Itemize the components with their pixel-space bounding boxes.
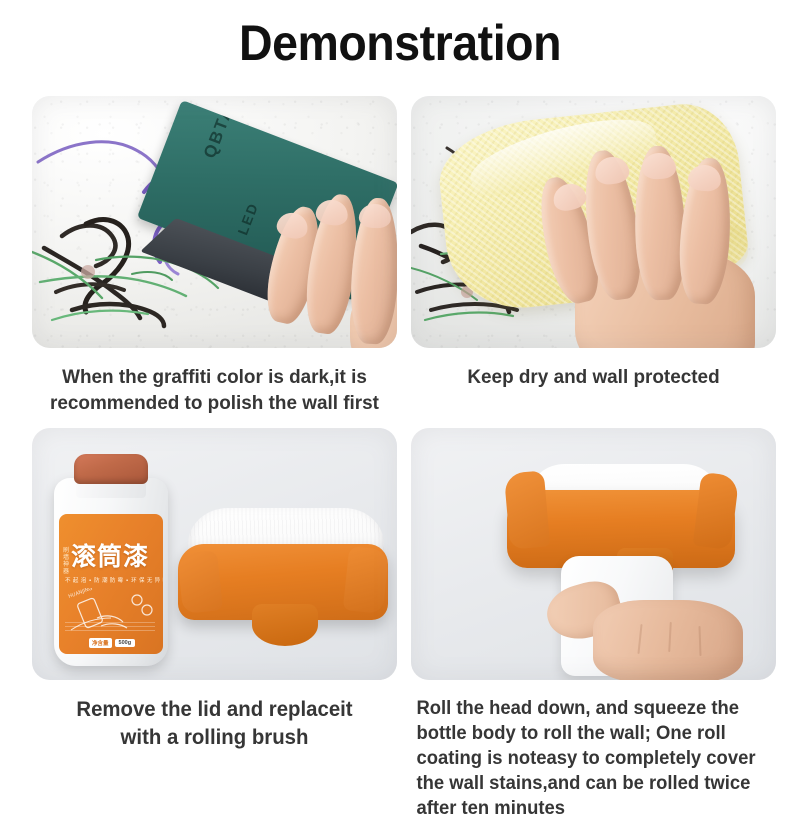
- roller-arm-right: [343, 546, 389, 614]
- caption-line: recommended to polish the wall first: [37, 390, 391, 416]
- caption-line: Remove the lid and replaceit: [37, 696, 391, 724]
- step-3-caption: Remove the lid and replaceit with a roll…: [37, 696, 391, 752]
- page-title: Demonstration: [28, 14, 772, 72]
- bottle-cap: [74, 454, 148, 484]
- caption-line: bottle body to roll the wall; One roll: [416, 721, 770, 746]
- photo-wipe-wall: [411, 96, 776, 348]
- caption-line: Roll the head down, and squeeze the: [416, 696, 770, 721]
- step-4-caption: Roll the head down, and squeeze the bott…: [416, 696, 770, 821]
- bottle-label-fineprint: [65, 622, 155, 632]
- caption-line: the wall stains,and can be rolled twice: [416, 771, 770, 796]
- hand: [547, 560, 743, 680]
- bottle-label-title: 滚筒漆: [71, 544, 149, 569]
- photo-bottle-and-roller: 刷墙神器 滚筒漆 不 起 泡 • 防 潮 防 霉 • 环 保 无 异 味 • 遮…: [32, 428, 397, 680]
- roller-brush-head: [178, 508, 388, 656]
- step-2: Keep dry and wall protected: [411, 96, 776, 390]
- svg-text:HUANJING: HUANJING: [68, 588, 94, 600]
- demonstration-infographic: Demonstration: [0, 0, 800, 800]
- step-1-caption: When the graffiti color is dark,it is re…: [37, 364, 391, 416]
- caption-line: coating is noteasy to completely cover: [416, 746, 770, 771]
- step-4: Roll the head down, and squeeze the bott…: [411, 428, 776, 821]
- paint-bottle: 刷墙神器 滚筒漆 不 起 泡 • 防 潮 防 霉 • 环 保 无 异 味 • 遮…: [54, 454, 168, 666]
- step-1: QBTAOUC LED 砂纸块 S 2 1: [32, 96, 397, 416]
- caption-line: with a rolling brush: [37, 724, 391, 752]
- hand: [264, 188, 397, 348]
- roller-arm-right: [693, 472, 740, 550]
- bottle-weight-badge: 净含量 500g: [89, 638, 135, 648]
- weight-label: 净含量: [89, 638, 112, 648]
- roller-arm-left: [504, 470, 550, 549]
- caption-line: Keep dry and wall protected: [416, 364, 770, 390]
- bottle-label-subtitle: 不 起 泡 • 防 潮 防 霉 • 环 保 无 异 味 • 遮 盖 力 强: [65, 576, 163, 584]
- roller-stem: [252, 604, 318, 646]
- photo-polish-wall: QBTAOUC LED 砂纸块 S 2 1: [32, 96, 397, 348]
- caption-line: When the graffiti color is dark,it is: [37, 364, 391, 390]
- roller-arm-left: [177, 550, 223, 614]
- step-3: 刷墙神器 滚筒漆 不 起 泡 • 防 潮 防 霉 • 环 保 无 异 味 • 遮…: [32, 428, 397, 752]
- weight-value: 500g: [115, 639, 136, 647]
- step-2-caption: Keep dry and wall protected: [416, 364, 770, 390]
- photo-roll-the-wall: [411, 428, 776, 680]
- hand: [531, 132, 763, 344]
- bottle-label: 刷墙神器 滚筒漆 不 起 泡 • 防 潮 防 霉 • 环 保 无 异 味 • 遮…: [59, 514, 163, 654]
